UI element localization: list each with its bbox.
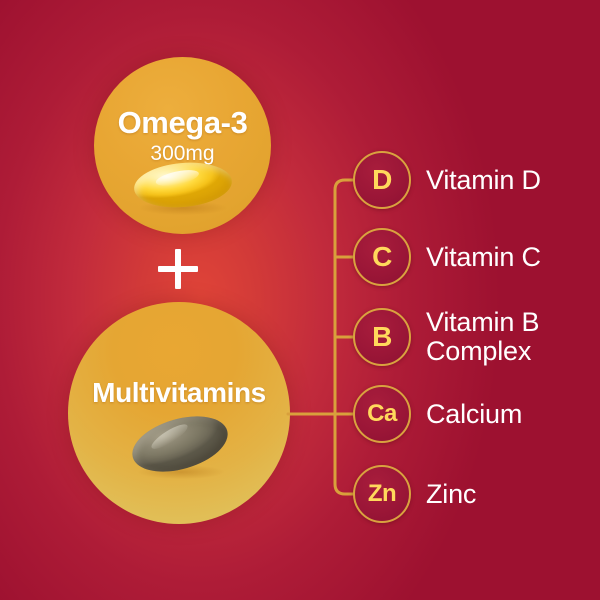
nutrient-badge-ca: Ca xyxy=(353,385,411,443)
nutrient-row-vitamin-d[interactable]: D Vitamin D xyxy=(353,151,541,209)
nutrient-badge-b: B xyxy=(353,308,411,366)
nutrient-label-vitamin-b-complex: Vitamin B Complex xyxy=(426,308,539,366)
nutrient-row-zinc[interactable]: Zn Zinc xyxy=(353,465,476,523)
nutrient-badge-zn: Zn xyxy=(353,465,411,523)
nutrient-row-vitamin-c[interactable]: C Vitamin C xyxy=(353,228,541,286)
connector-lines xyxy=(0,0,600,600)
nutrient-label-zinc: Zinc xyxy=(426,480,476,509)
nutrient-badge-c: C xyxy=(353,228,411,286)
nutrient-badge-d: D xyxy=(353,151,411,209)
nutrient-row-vitamin-b-complex[interactable]: B Vitamin B Complex xyxy=(353,308,539,366)
nutrient-label-vitamin-d: Vitamin D xyxy=(426,166,541,195)
infographic-canvas: Omega-3 300mg Multivitamins D xyxy=(0,0,600,600)
nutrient-row-calcium[interactable]: Ca Calcium xyxy=(353,385,522,443)
nutrient-label-vitamin-c: Vitamin C xyxy=(426,243,541,272)
nutrient-label-calcium: Calcium xyxy=(426,400,522,429)
